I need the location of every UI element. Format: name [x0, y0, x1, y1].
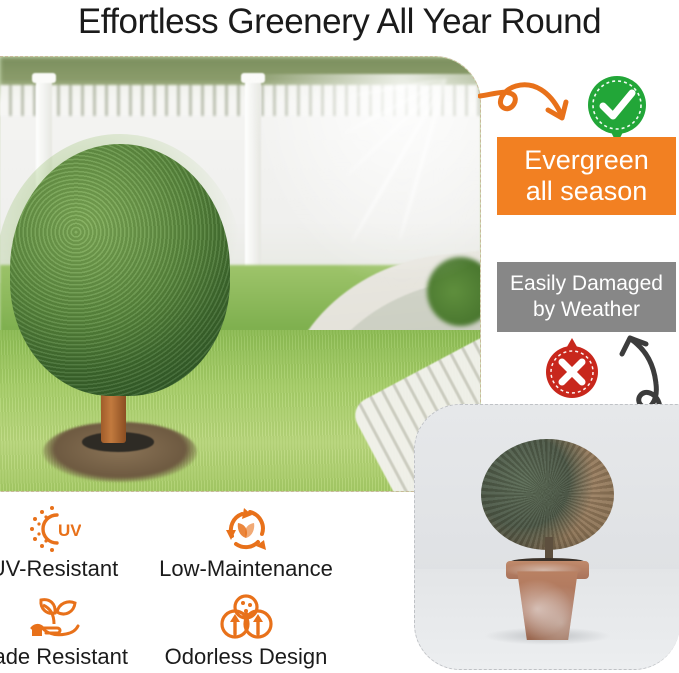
feature-label: Fade Resistant — [0, 644, 154, 670]
hand-holding-plant-icon — [0, 590, 154, 644]
badge-line-1: Easily Damaged — [510, 271, 663, 297]
feature-list: UV UV-Resistant — [0, 500, 410, 673]
feature-item-low-maintenance: Low-Maintenance — [146, 502, 346, 582]
badge-line-1: Evergreen — [524, 145, 649, 176]
feature-label: Low-Maintenance — [146, 556, 346, 582]
page-title: Effortless Greenery All Year Round — [0, 0, 679, 46]
feature-label: Odorless Design — [146, 644, 346, 670]
uv-sun-icon: UV — [0, 502, 154, 556]
recycle-leaf-icon — [146, 502, 346, 556]
x-circle-icon — [545, 338, 599, 400]
feature-item-fade-resistant: Fade Resistant — [0, 590, 154, 670]
topiary-canopy — [10, 144, 231, 396]
svg-text:UV: UV — [58, 521, 81, 540]
feature-item-uv-resistant: UV UV-Resistant — [0, 502, 154, 582]
status-badge-damaged: Easily Damaged by Weather — [497, 262, 676, 332]
damaged-product-photo — [414, 404, 679, 670]
feature-item-odorless-design: Odorless Design — [146, 590, 346, 670]
sprinkler-water-spray — [202, 74, 480, 343]
badge-line-2: by Weather — [533, 297, 640, 323]
fence-post-cap-left — [32, 73, 56, 83]
badge-line-2: all season — [526, 176, 648, 207]
odor-free-cloud-arrows-icon — [146, 590, 346, 644]
infographic-canvas: Effortless Greenery All Year Round — [0, 0, 679, 673]
curved-arrow-down-right-icon — [478, 70, 584, 134]
feature-label: UV-Resistant — [0, 556, 154, 582]
status-badge-evergreen: Evergreen all season — [497, 137, 676, 215]
check-circle-icon — [586, 74, 648, 144]
dried-topiary-crown — [481, 439, 614, 550]
hero-product-photo — [0, 56, 481, 492]
